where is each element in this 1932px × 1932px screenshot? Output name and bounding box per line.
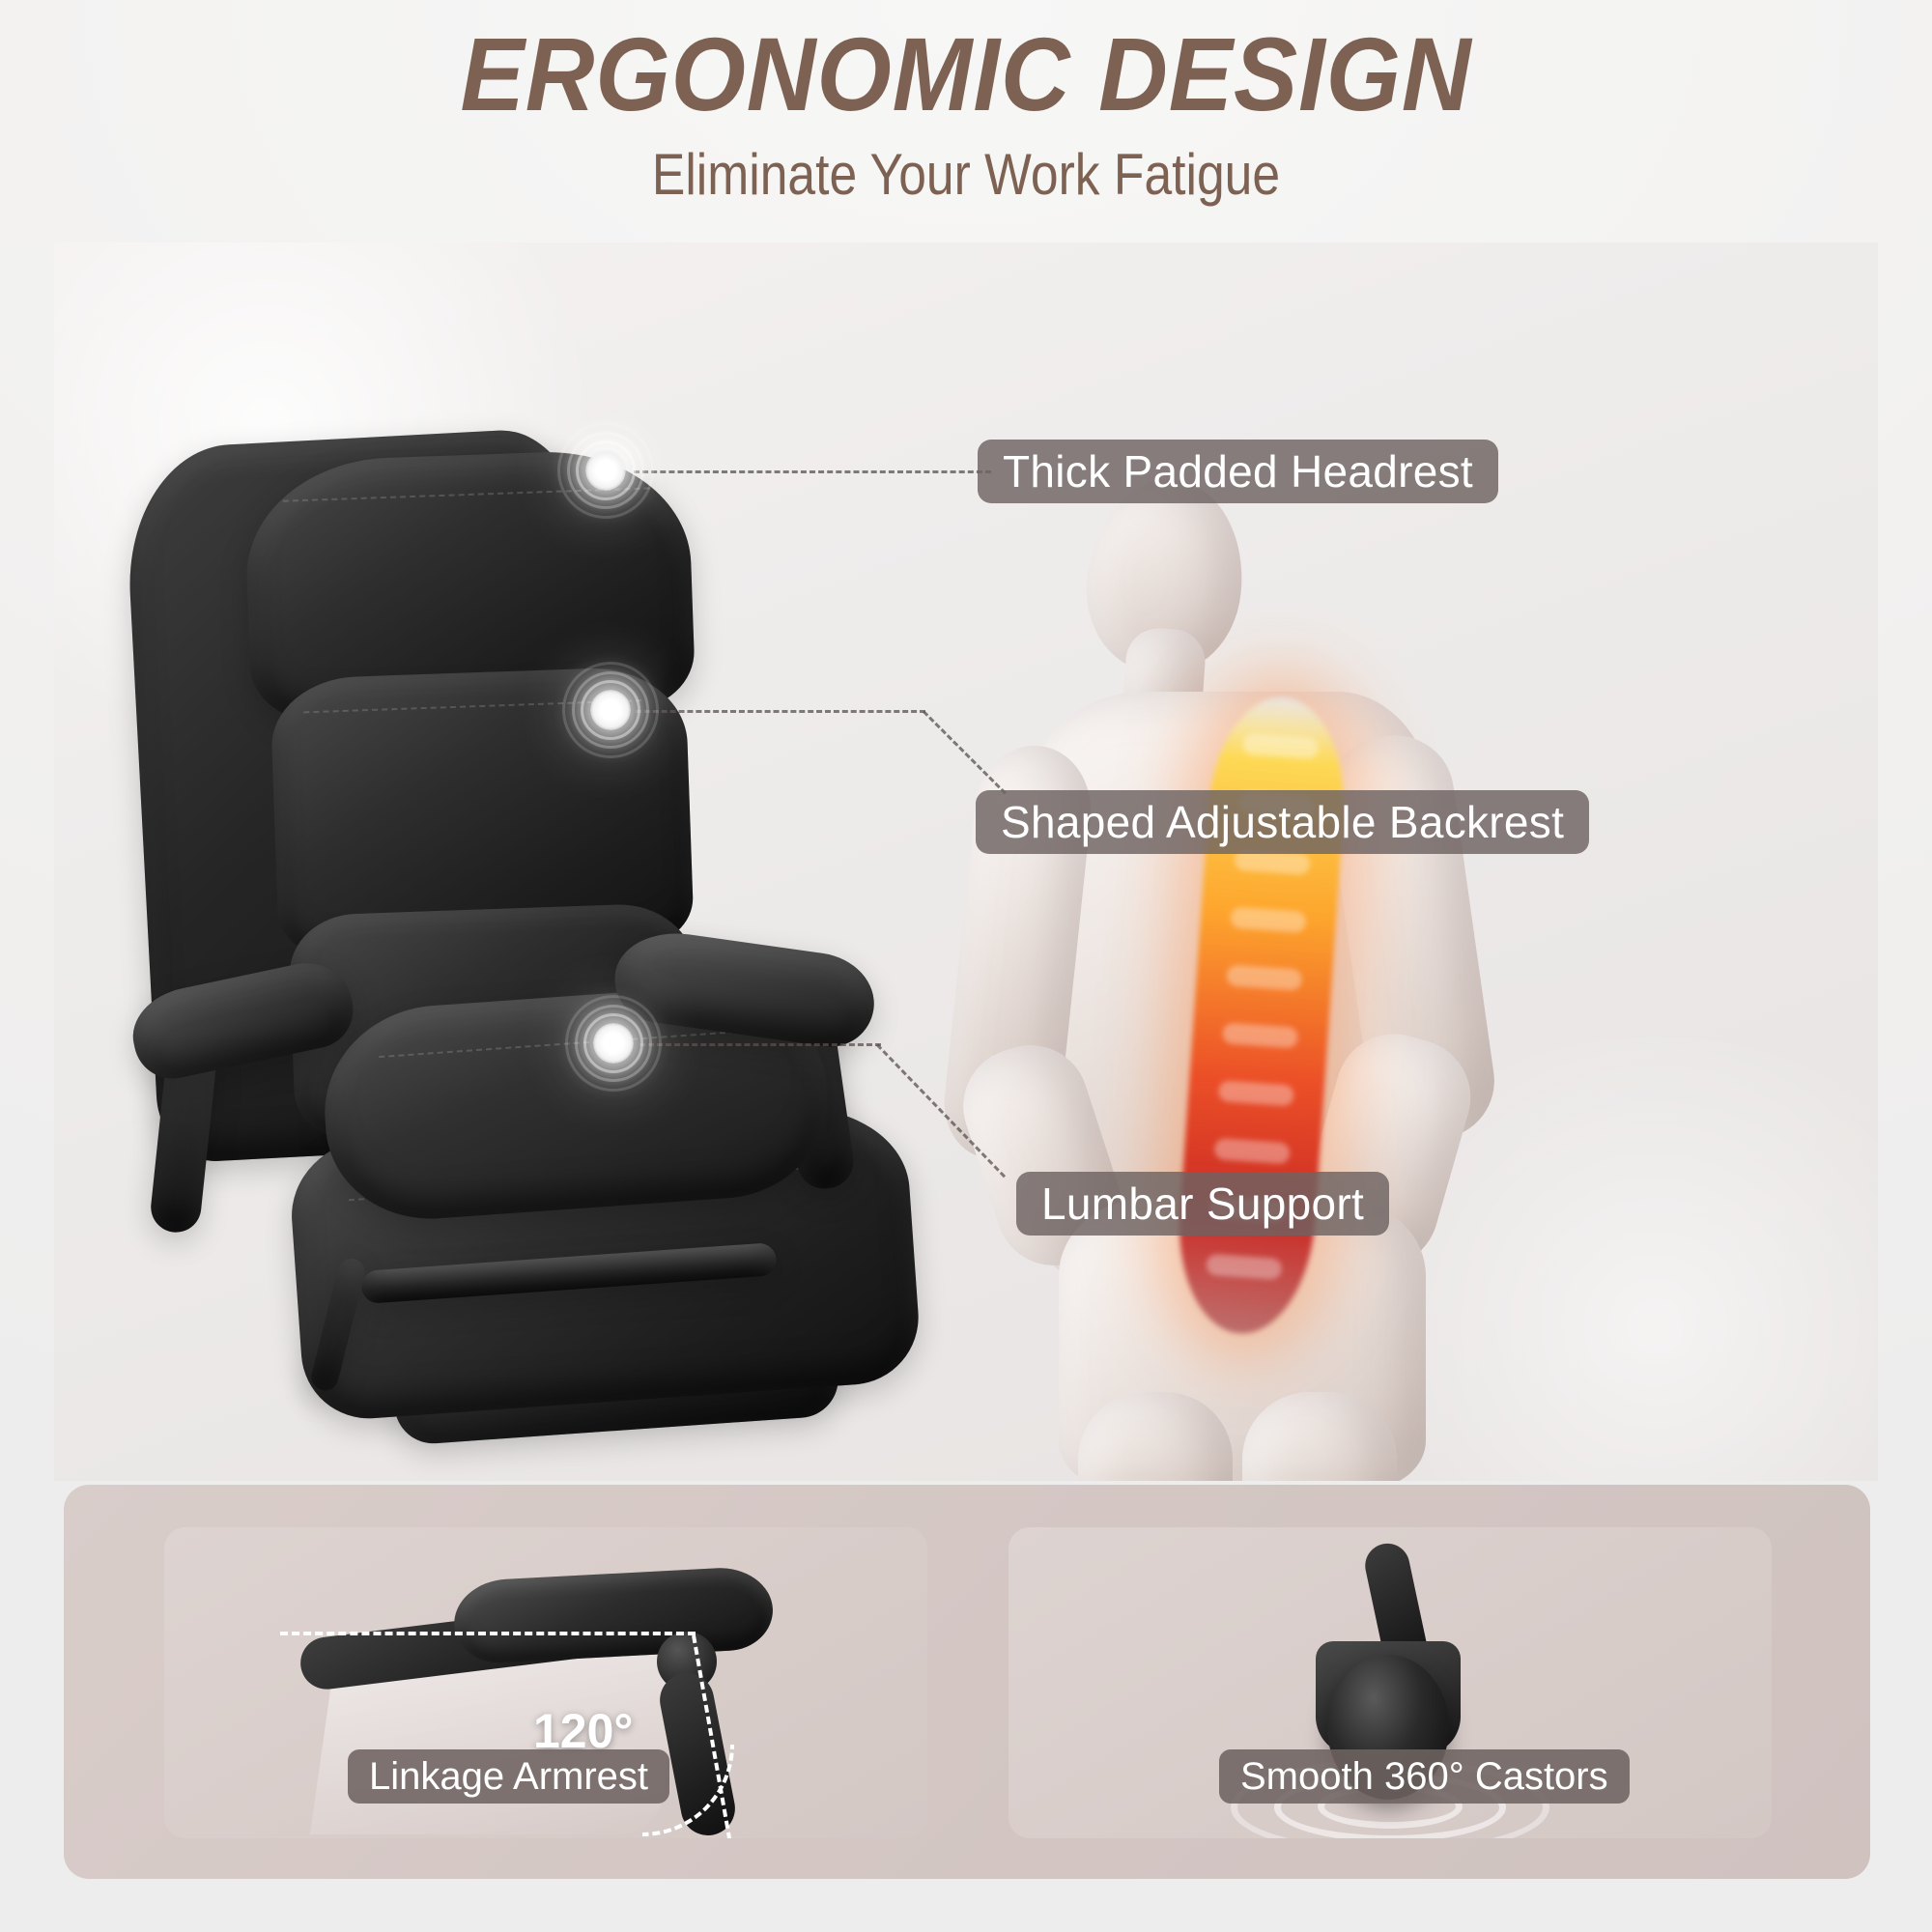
armrest-pad	[452, 1565, 775, 1664]
feature-panel-linkage-armrest: 120° Linkage Armrest	[164, 1527, 927, 1838]
vertebra	[1206, 1254, 1282, 1280]
vertebra	[1230, 907, 1306, 933]
vertebra	[1226, 964, 1302, 990]
vertebra	[1222, 1022, 1298, 1048]
page-subtitle: Eliminate Your Work Fatigue	[652, 141, 1280, 208]
header: ERGONOMIC DESIGN Eliminate Your Work Fat…	[0, 0, 1932, 241]
vertebra	[1242, 733, 1319, 759]
infographic-page: ERGONOMIC DESIGN Eliminate Your Work Fat…	[0, 0, 1932, 1932]
main-image-panel	[54, 242, 1878, 1481]
callout-label-backrest: Shaped Adjustable Backrest	[976, 790, 1589, 854]
vertebra	[1218, 1080, 1294, 1106]
leader-line-headrest	[634, 470, 991, 473]
stitch-line	[303, 699, 641, 713]
leader-line-lumbar-horizontal	[639, 1043, 881, 1046]
leader-line-backrest-horizontal	[636, 710, 925, 713]
human-back-pain-figure	[904, 242, 1878, 1481]
stitch-line	[283, 487, 650, 501]
callout-label-headrest: Thick Padded Headrest	[978, 440, 1498, 503]
feature-label-linkage-armrest: Linkage Armrest	[348, 1749, 669, 1804]
angle-reference-line	[280, 1632, 696, 1635]
feature-label-smooth-castors: Smooth 360° Castors	[1219, 1749, 1630, 1804]
page-title: ERGONOMIC DESIGN	[460, 21, 1471, 128]
office-chair-image	[102, 242, 904, 1481]
bottom-feature-strip: 120° Linkage Armrest Smooth 360° Castors	[64, 1485, 1870, 1879]
callout-label-lumbar: Lumbar Support	[1016, 1172, 1389, 1236]
vertebra	[1213, 1138, 1290, 1164]
feature-panel-smooth-castors: Smooth 360° Castors	[1009, 1527, 1772, 1838]
